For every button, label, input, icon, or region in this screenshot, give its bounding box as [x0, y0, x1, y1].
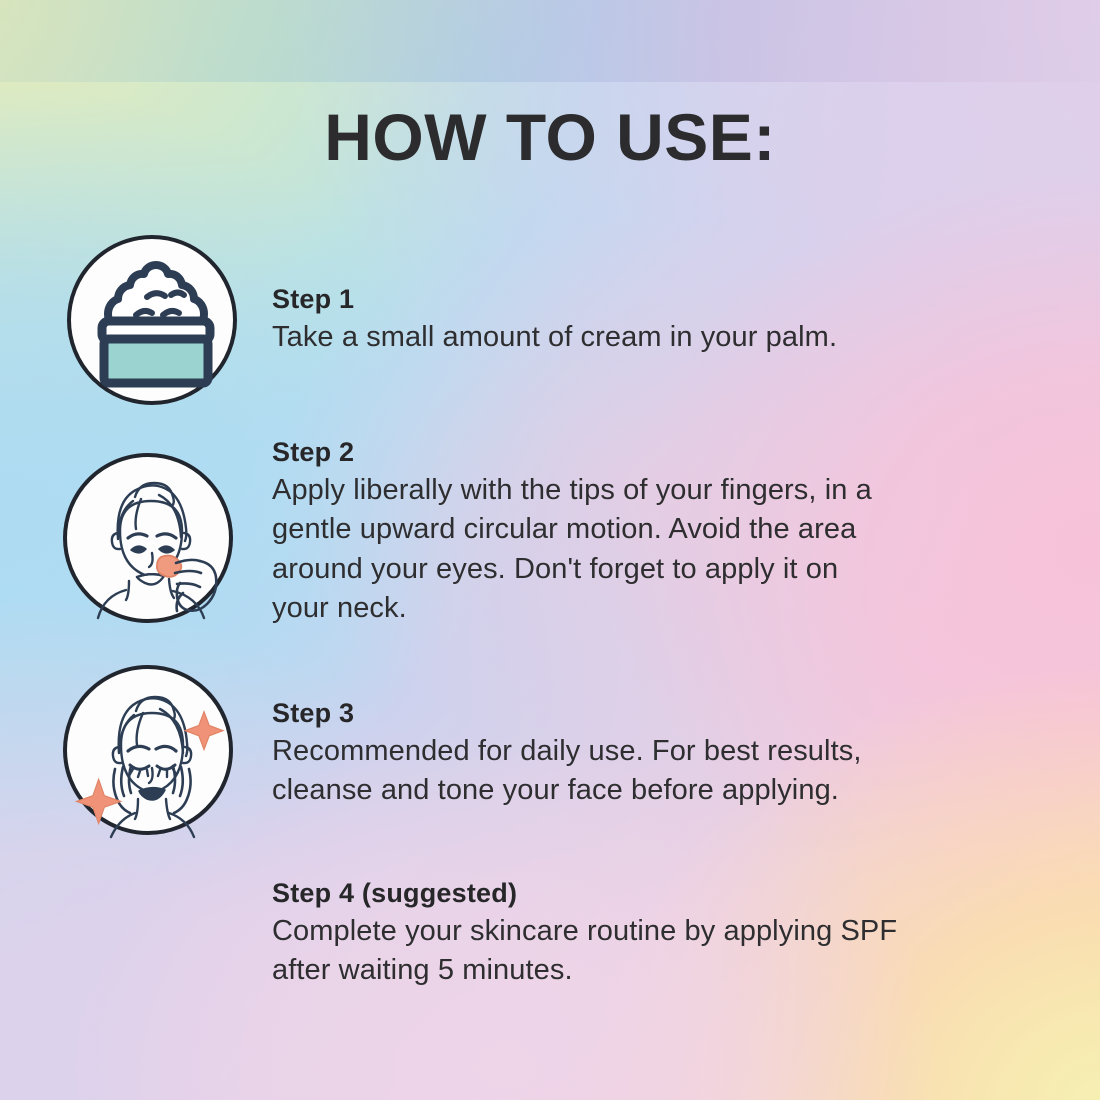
- step-1-text: Step 1 Take a small amount of cream in y…: [272, 284, 1062, 357]
- woman-glowing-face-icon: [63, 665, 233, 835]
- step-3-text: Step 3 Recommended for daily use. For be…: [272, 698, 1062, 811]
- step-2-label: Step 2: [272, 437, 1062, 469]
- step-2-body: Apply liberally with the tips of your fi…: [272, 471, 1062, 629]
- step-1-label: Step 1: [272, 284, 1062, 316]
- step-2-text: Step 2 Apply liberally with the tips of …: [272, 437, 1062, 629]
- sparkle-icon: [185, 712, 223, 750]
- page-title: HOW TO USE:: [0, 104, 1100, 170]
- cream-jar-icon: [67, 235, 237, 405]
- step-4-body: Complete your skincare routine by applyi…: [272, 912, 1072, 991]
- step-3-label: Step 3: [272, 698, 1062, 730]
- step-4-text: Step 4 (suggested) Complete your skincar…: [272, 878, 1072, 991]
- step-3-body: Recommended for daily use. For best resu…: [272, 732, 1062, 811]
- step-1-body: Take a small amount of cream in your pal…: [272, 318, 1062, 357]
- woman-applying-cream-icon: [63, 453, 233, 623]
- step-4-label: Step 4 (suggested): [272, 878, 1072, 910]
